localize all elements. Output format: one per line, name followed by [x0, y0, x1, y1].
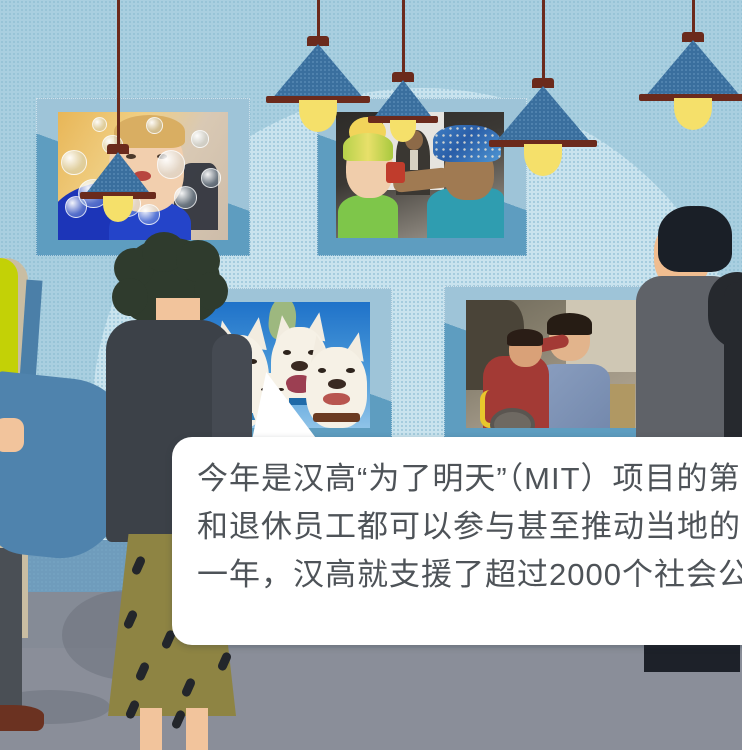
speech-bubble-text: 今年是汉高“为了明天”（MIT）项目的第 和退休员工都可以参与甚至推动当地的 一… — [197, 455, 742, 599]
pendant-lamp-4 — [478, 0, 608, 200]
lamp-shade-texture — [494, 86, 592, 144]
visitor-left-hand — [0, 418, 24, 452]
speech-line-1: 今年是汉高“为了明天”（MIT）项目的第 — [197, 455, 742, 503]
lamp-bulb — [299, 100, 337, 132]
pendant-lamp-1 — [70, 0, 166, 210]
visitor-woman-leg — [140, 708, 162, 750]
visitor-left-shoe — [0, 705, 44, 731]
lamp-bulb — [674, 98, 712, 130]
visitor-man-hair — [658, 206, 732, 272]
visitor-left-leg — [0, 548, 22, 728]
lamp-bulb — [524, 144, 562, 176]
lamp-cord — [317, 0, 320, 40]
pendant-lamp-5 — [628, 0, 742, 160]
lamp-cord — [542, 0, 545, 82]
lamp-cord — [402, 0, 405, 76]
lamp-shade-texture — [84, 152, 152, 196]
speech-line-3: 一年，汉高就支援了超过2000个社会公 — [197, 551, 742, 599]
photo-image-wheelchair — [466, 300, 638, 428]
pendant-lamp-3 — [360, 0, 446, 140]
lamp-cord — [117, 0, 120, 148]
lamp-shade-texture — [644, 40, 742, 98]
gallery-illustration: 今年是汉高“为了明天”（MIT）项目的第 和退休员工都可以参与甚至推动当地的 一… — [0, 0, 742, 750]
lamp-shade-texture — [372, 80, 434, 120]
lamp-shade-texture — [271, 44, 365, 100]
lamp-bulb — [390, 120, 416, 142]
lamp-cord — [692, 0, 695, 36]
speech-line-2: 和退休员工都可以参与甚至推动当地的 — [197, 503, 742, 551]
visitor-woman-leg — [186, 708, 208, 750]
hair-curl — [112, 278, 148, 316]
